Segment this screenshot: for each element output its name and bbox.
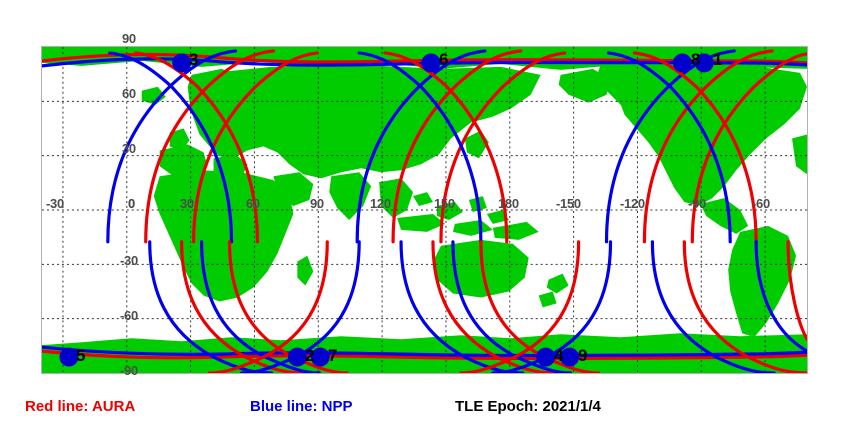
- lon-tick-neg90: -90: [688, 196, 706, 211]
- lat-tick-60: 60: [122, 86, 136, 101]
- lon-tick-neg60: -60: [752, 196, 770, 211]
- lon-tick-180: 180: [498, 196, 519, 211]
- satellite-marker-6[interactable]: [422, 53, 441, 72]
- marker-label-6: 6: [439, 51, 448, 68]
- marker-label-9: 9: [578, 347, 587, 364]
- marker-label-5: 5: [76, 347, 85, 364]
- legend-tle-epoch: TLE Epoch: 2021/1/4: [455, 398, 601, 415]
- legend-blue-line: Blue line: NPP: [250, 398, 353, 415]
- marker-label-1: 1: [713, 51, 722, 68]
- legend-red-line: Red line: AURA: [25, 398, 135, 415]
- lon-tick-120: 120: [370, 196, 391, 211]
- marker-label-8: 8: [691, 51, 700, 68]
- lat-tick-90: 90: [122, 31, 136, 46]
- lat-tick-neg60: -60: [120, 308, 138, 323]
- marker-label-3: 3: [189, 51, 198, 68]
- lon-tick-60: 60: [246, 196, 260, 211]
- lat-tick-30: 30: [122, 141, 136, 156]
- lat-tick-neg30: -30: [120, 253, 138, 268]
- lon-tick-30: 30: [180, 196, 194, 211]
- satellite-marker-4[interactable]: [536, 348, 555, 367]
- lon-tick-0: 0: [128, 196, 135, 211]
- lon-tick-neg30: -30: [46, 196, 64, 211]
- figure-canvas: 90 60 30 0 -30 -60 -90 -30 0 30 60 90 12…: [0, 0, 850, 425]
- satellite-marker-8[interactable]: [673, 53, 692, 72]
- marker-label-2: 2: [305, 347, 314, 364]
- lon-tick-neg120: -120: [620, 196, 645, 211]
- marker-label-4: 4: [554, 347, 563, 364]
- lat-tick-neg90: -90: [120, 363, 138, 378]
- satellite-marker-2[interactable]: [288, 348, 307, 367]
- marker-label-7: 7: [328, 347, 337, 364]
- lon-tick-90: 90: [310, 196, 324, 211]
- lon-tick-150: 150: [434, 196, 455, 211]
- lon-tick-neg150: -150: [556, 196, 581, 211]
